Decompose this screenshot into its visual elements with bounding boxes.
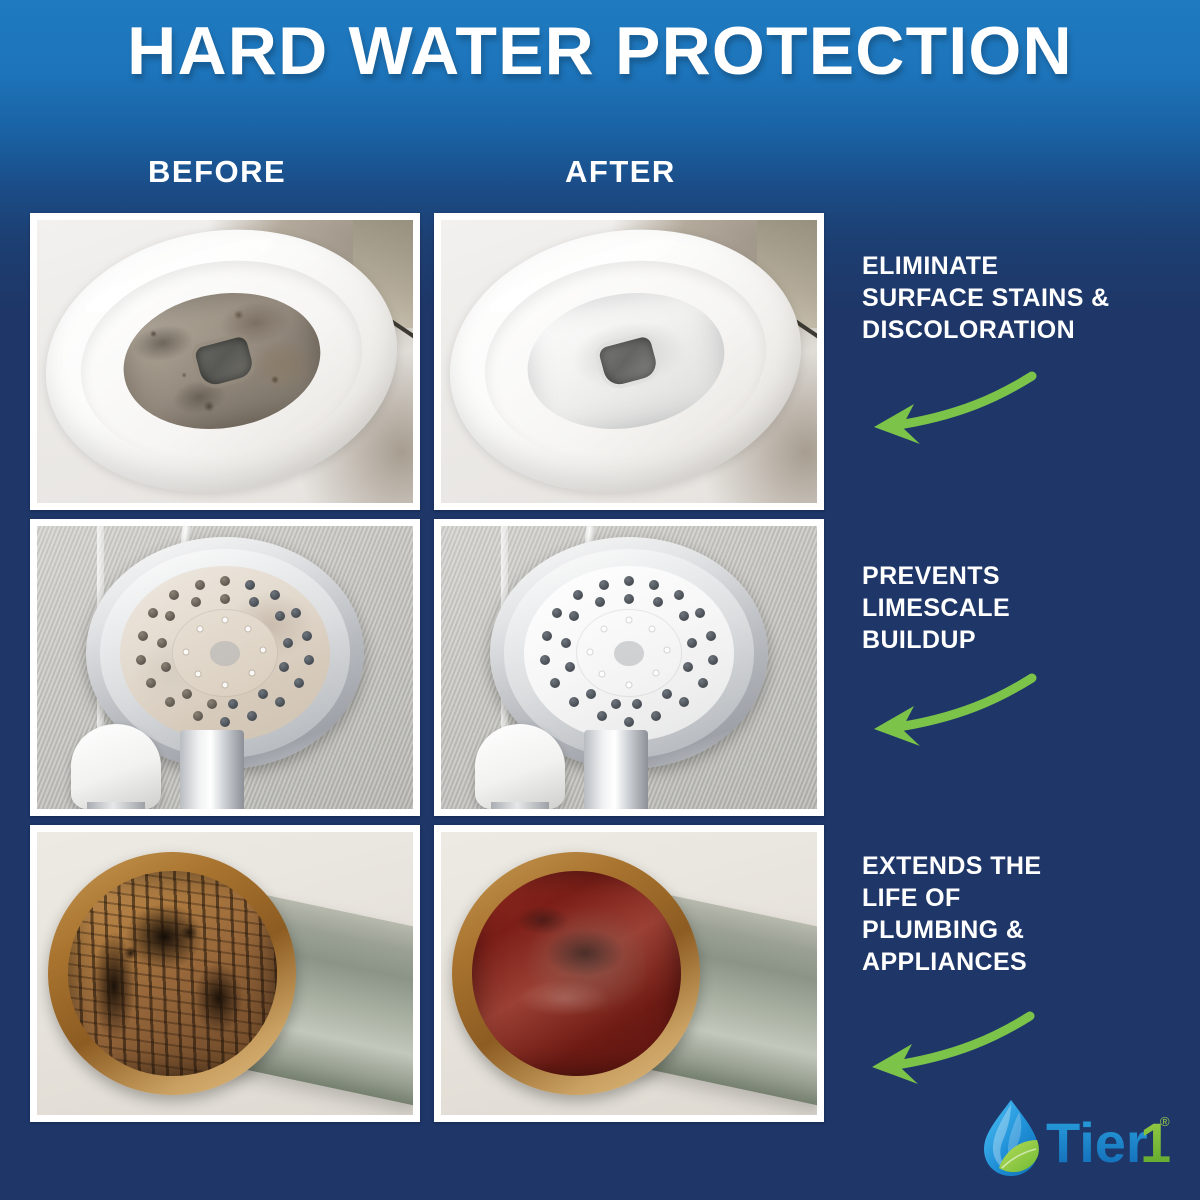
infographic-root: HARD WATER PROTECTION BEFORE AFTER	[0, 0, 1200, 1200]
curved-arrow-left-icon	[850, 370, 1040, 455]
callout-line: SURFACE STAINS &	[862, 282, 1188, 314]
shower-head-handle	[180, 730, 244, 809]
center-hub	[210, 641, 239, 666]
shower-head-chrome-ring	[504, 549, 754, 758]
callout-line: DISCOLORATION	[862, 314, 1188, 346]
logo-trademark: ®	[1160, 1114, 1170, 1129]
photo-panel-toilet-after	[434, 213, 824, 510]
photo-panel-pipe-after	[434, 825, 824, 1122]
toilet-bowl-rim	[66, 242, 376, 482]
callout-line: ELIMINATE	[862, 250, 1188, 282]
callout-line: BUILDUP	[862, 624, 1188, 656]
shower-head-face-clean	[524, 566, 734, 741]
callout-line: LIFE OF	[862, 882, 1188, 914]
column-caption-before: BEFORE	[148, 155, 286, 189]
pipe-clear-interior	[472, 871, 680, 1075]
photo-toilet-before	[37, 220, 413, 503]
callout-line: EXTENDS THE	[862, 850, 1188, 882]
photo-pipe-after	[441, 832, 817, 1115]
photo-toilet-after	[441, 220, 817, 503]
shower-head-chrome-ring	[100, 549, 350, 758]
shower-head-center-disc	[172, 609, 277, 697]
callout-extends-life: EXTENDS THE LIFE OF PLUMBING & APPLIANCE…	[862, 850, 1188, 978]
pipe-scale-buildup	[68, 871, 276, 1075]
logo-wordmark: Tier	[1046, 1111, 1148, 1174]
toilet-basin	[517, 280, 734, 444]
photo-pipe-before	[37, 832, 413, 1115]
photo-showerhead-after	[441, 526, 817, 809]
callout-line: APPLIANCES	[862, 946, 1188, 978]
shower-head-center-disc	[576, 609, 681, 697]
water-drop-leaf-icon	[984, 1100, 1039, 1176]
callout-eliminate-stains: ELIMINATE SURFACE STAINS & DISCOLORATION	[862, 250, 1188, 346]
pipe-scene-corroded	[37, 832, 413, 1115]
callout-line: PREVENTS	[862, 560, 1188, 592]
pipe-bore	[472, 871, 680, 1075]
toilet-basin	[113, 280, 330, 444]
photo-panel-pipe-before	[30, 825, 420, 1122]
callout-prevents-limescale: PREVENTS LIMESCALE BUILDUP	[862, 560, 1188, 656]
shower-control-knob	[475, 724, 565, 809]
tier1-logo[interactable]: Tier 1 ®	[980, 1096, 1180, 1182]
pipe-cut-rim	[452, 852, 700, 1095]
toilet-bowl-rim	[470, 242, 780, 482]
photo-panel-showerhead-before	[30, 519, 420, 816]
curved-arrow-left-icon	[848, 1010, 1038, 1095]
shower-head-handle	[584, 730, 648, 809]
page-title: HARD WATER PROTECTION	[0, 12, 1200, 90]
photo-panel-showerhead-after	[434, 519, 824, 816]
shower-scene-scaled	[37, 526, 413, 809]
toilet-scene-clean	[441, 220, 817, 503]
pipe-cut-rim	[48, 852, 296, 1095]
photo-showerhead-before	[37, 526, 413, 809]
curved-arrow-left-icon	[850, 672, 1040, 757]
center-hub	[614, 641, 643, 666]
callout-line: PLUMBING &	[862, 914, 1188, 946]
pipe-bore	[68, 871, 276, 1075]
callout-line: LIMESCALE	[862, 592, 1188, 624]
photo-panel-toilet-before	[30, 213, 420, 510]
shower-scene-clean	[441, 526, 817, 809]
toilet-scene-dirty	[37, 220, 413, 503]
pipe-scene-clear	[441, 832, 817, 1115]
shower-head-face-scaled	[120, 566, 330, 741]
shower-control-knob	[71, 724, 161, 809]
column-caption-after: AFTER	[565, 155, 676, 189]
